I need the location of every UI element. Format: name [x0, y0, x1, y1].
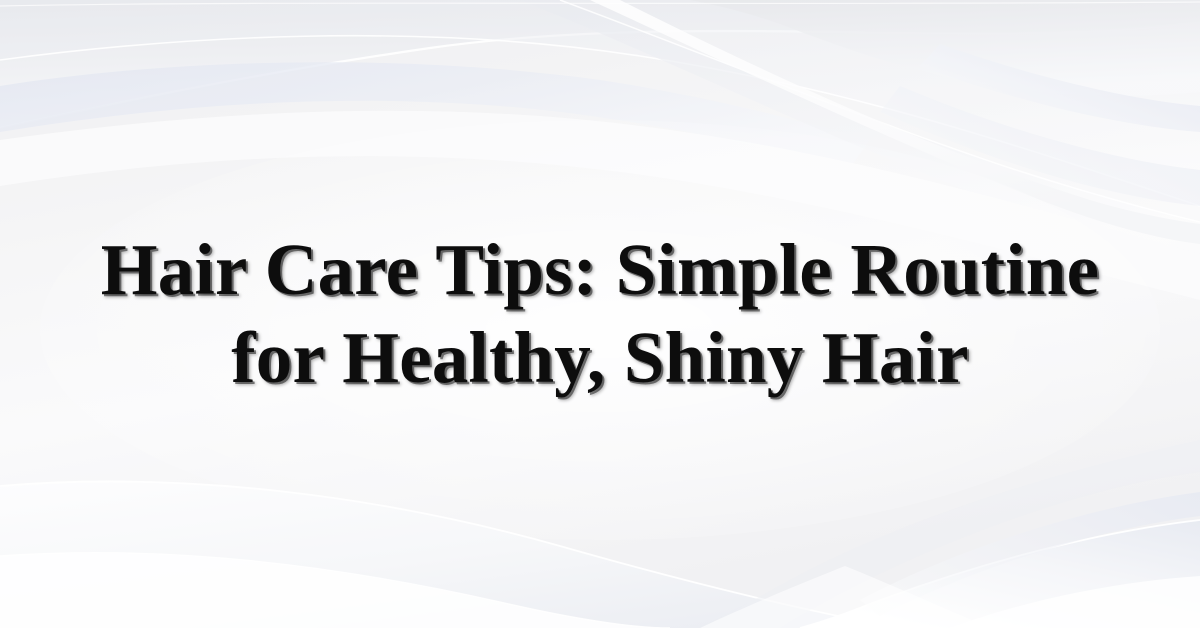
title-card-banner: Hair Care Tips: Simple Routine for Healt…: [0, 0, 1200, 628]
headline-block: Hair Care Tips: Simple Routine for Healt…: [0, 0, 1200, 628]
page-title: Hair Care Tips: Simple Routine for Healt…: [90, 226, 1110, 402]
